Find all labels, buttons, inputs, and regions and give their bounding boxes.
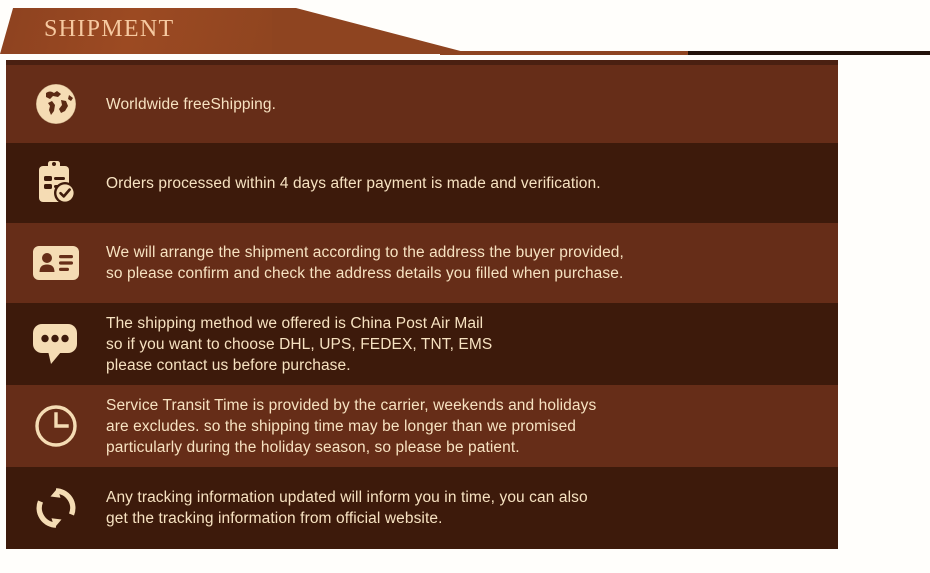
shipment-row-line: Worldwide freeShipping.: [106, 94, 838, 115]
clock-icon: [28, 398, 84, 454]
shipment-row: Orders processed within 4 days after pay…: [6, 143, 838, 223]
shipment-row-line: We will arrange the shipment according t…: [106, 242, 838, 263]
shipment-row-text: Orders processed within 4 days after pay…: [106, 173, 838, 194]
shipment-row-line: please contact us before purchase.: [106, 355, 838, 376]
shipment-row: We will arrange the shipment according t…: [6, 223, 838, 303]
shipment-row: Any tracking information updated will in…: [6, 467, 838, 549]
page-title: SHIPMENT: [44, 16, 174, 43]
shipment-row-line: so please confirm and check the address …: [106, 263, 838, 284]
shipment-row: Service Transit Time is provided by the …: [6, 385, 838, 467]
shipment-row-text: The shipping method we offered is China …: [106, 313, 838, 376]
shipment-row-line: The shipping method we offered is China …: [106, 313, 838, 334]
shipment-row-line: Orders processed within 4 days after pay…: [106, 173, 838, 194]
shipment-row-text: Any tracking information updated will in…: [106, 487, 838, 529]
banner-header: SHIPMENT: [0, 0, 930, 66]
clipboard-check-icon: [28, 155, 84, 211]
shipment-row: Worldwide freeShipping.: [6, 65, 838, 143]
shipment-row-line: particularly during the holiday season, …: [106, 437, 838, 458]
shipment-row: The shipping method we offered is China …: [6, 303, 838, 385]
header-rule-light: [440, 51, 695, 55]
id-card-icon: [28, 235, 84, 291]
shipment-banner: SHIPMENT Worldwide freeShipping.Orders p…: [0, 0, 930, 573]
header-tab-slope-shape: [272, 8, 472, 54]
shipment-rows-panel: Worldwide freeShipping.Orders processed …: [6, 65, 838, 549]
shipment-row-text: We will arrange the shipment according t…: [106, 242, 838, 284]
header-rule-dark: [688, 51, 930, 55]
speech-bubble-icon: [28, 316, 84, 372]
shipment-row-text: Worldwide freeShipping.: [106, 94, 838, 115]
shipment-row-line: get the tracking information from offici…: [106, 508, 838, 529]
refresh-icon: [28, 480, 84, 536]
shipment-row-line: so if you want to choose DHL, UPS, FEDEX…: [106, 334, 838, 355]
shipment-row-line: Service Transit Time is provided by the …: [106, 395, 838, 416]
shipment-row-text: Service Transit Time is provided by the …: [106, 395, 838, 458]
shipment-row-line: Any tracking information updated will in…: [106, 487, 838, 508]
globe-icon: [28, 76, 84, 132]
shipment-row-line: are excludes. so the shipping time may b…: [106, 416, 838, 437]
